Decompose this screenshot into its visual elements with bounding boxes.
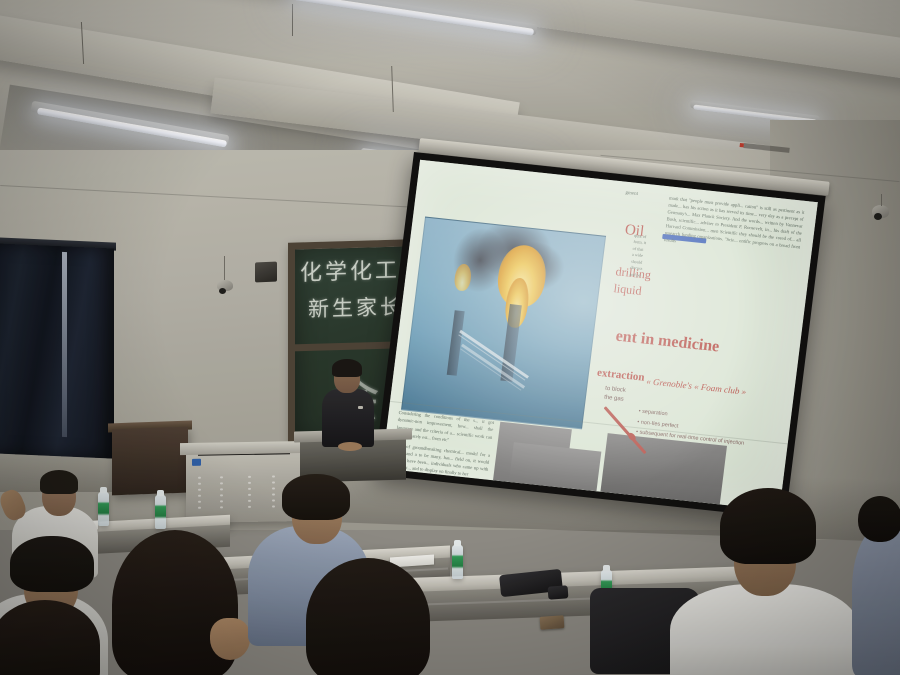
bottle-cap xyxy=(100,487,107,493)
bottle-cap xyxy=(157,490,164,496)
blackboard-text-line2: 新生家长 xyxy=(308,291,404,324)
slide-paragraph-bottom-left-2: pline of groundbreaking chemical... mode… xyxy=(392,442,491,480)
presenter-hands xyxy=(338,442,362,451)
slide-paragraph-middle: qunt of form, it of that a wide should d… xyxy=(629,233,660,281)
bottle-cap xyxy=(454,540,461,546)
slide-extraction-subtext: to block the gas xyxy=(603,384,626,404)
slide-paragraph-top-right: mark that "people must provide appli... … xyxy=(664,194,805,258)
water-bottle[interactable] xyxy=(452,545,463,579)
slide-image-panel xyxy=(509,442,601,491)
slide-image-panel xyxy=(600,433,727,504)
curtain-light-gap xyxy=(62,252,67,437)
wall-speaker xyxy=(255,262,277,283)
slide-content: Oil drilling liquid ent in medicine extr… xyxy=(382,160,818,511)
camera-lens xyxy=(548,585,569,599)
water-bottle[interactable] xyxy=(155,495,166,529)
screen-brand-label xyxy=(743,143,789,153)
presenter-shirt-logo xyxy=(358,406,363,409)
slide-heading-medicine: ent in medicine xyxy=(615,328,721,357)
wooden-cabinet xyxy=(112,427,188,496)
slide-heading-extraction: extraction xyxy=(596,366,645,383)
slide-foam-club-text: « Grenoble's « Foam club » xyxy=(646,376,747,397)
hand xyxy=(210,618,250,660)
projection-screen: Oil drilling liquid ent in medicine extr… xyxy=(414,140,834,490)
lecture-hall-photo: 化学化工学院 新生家长 会 xyxy=(0,0,900,675)
screen-frame: Oil drilling liquid ent in medicine extr… xyxy=(374,152,826,519)
console-top-surface xyxy=(180,441,310,455)
oil-platform-photo xyxy=(401,217,606,430)
console-badge xyxy=(192,459,201,466)
bottle-cap xyxy=(603,565,610,571)
water-bottle[interactable] xyxy=(98,492,109,526)
slide-paragraph-top-left: gment xyxy=(625,190,638,199)
presenter-torso xyxy=(322,389,374,447)
mobile-phone[interactable] xyxy=(540,615,565,630)
presenter-hair xyxy=(332,359,362,377)
window-curtain[interactable] xyxy=(0,243,114,458)
